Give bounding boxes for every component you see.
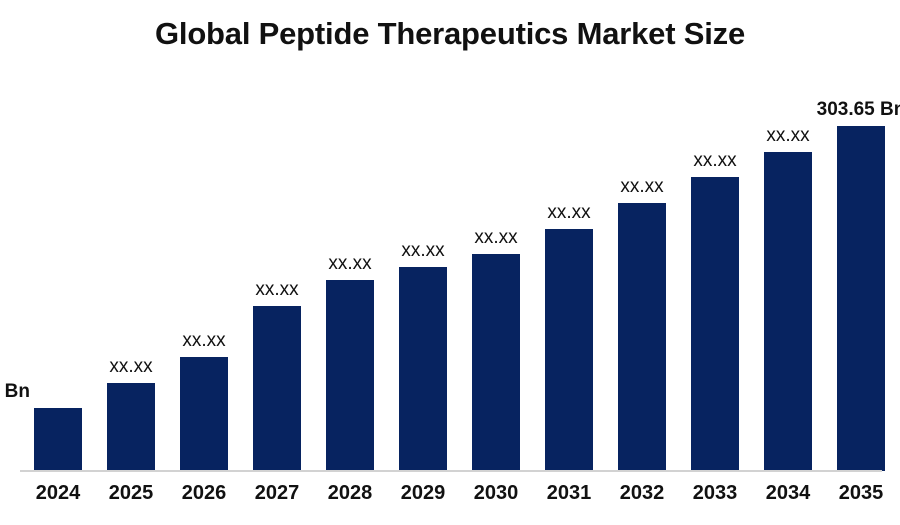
bar-value-label-2032: xx.xx: [620, 177, 663, 196]
x-axis-label-2035: 2035: [825, 482, 897, 505]
bar-value-label-2031: xx.xx: [547, 203, 590, 222]
bar-group: xx.xx2033: [691, 0, 739, 525]
chart-container: Global Peptide Therapeutics Market Size …: [0, 0, 900, 525]
bar-value-label-2025: xx.xx: [109, 357, 152, 376]
bar-value-label-2035: 303.65 Bn: [817, 100, 900, 119]
x-axis-label-2033: 2033: [679, 482, 751, 505]
x-axis-line: [20, 470, 882, 472]
bar-2032[interactable]: [618, 203, 666, 471]
bar-group: xx.xx2026: [180, 0, 228, 525]
bar-2024[interactable]: [34, 408, 82, 471]
bar-2027[interactable]: [253, 306, 301, 471]
x-axis-label-2026: 2026: [168, 482, 240, 505]
bar-group: xx.xx2032: [618, 0, 666, 525]
bar-2034[interactable]: [764, 152, 812, 471]
bar-group: 141.35 Bn2024: [34, 0, 82, 525]
bar-2030[interactable]: [472, 254, 520, 471]
bar-value-label-2028: xx.xx: [328, 254, 371, 273]
bar-2026[interactable]: [180, 357, 228, 471]
x-axis-label-2024: 2024: [22, 482, 94, 505]
bar-2028[interactable]: [326, 280, 374, 471]
bar-2033[interactable]: [691, 177, 739, 471]
bar-group: xx.xx2025: [107, 0, 155, 525]
bar-2025[interactable]: [107, 383, 155, 471]
bar-group: 303.65 Bn2035: [837, 0, 885, 525]
bar-2035[interactable]: [837, 126, 885, 471]
x-axis-label-2025: 2025: [95, 482, 167, 505]
x-axis-label-2031: 2031: [533, 482, 605, 505]
bar-value-label-2027: xx.xx: [255, 280, 298, 299]
x-axis-label-2030: 2030: [460, 482, 532, 505]
bar-group: xx.xx2030: [472, 0, 520, 525]
x-axis-label-2032: 2032: [606, 482, 678, 505]
x-axis-label-2028: 2028: [314, 482, 386, 505]
bar-2031[interactable]: [545, 229, 593, 471]
bar-value-label-2026: xx.xx: [182, 331, 225, 350]
plot-area: 141.35 Bn2024xx.xx2025xx.xx2026xx.xx2027…: [0, 0, 900, 525]
bar-value-label-2030: xx.xx: [474, 228, 517, 247]
bar-value-label-2033: xx.xx: [693, 151, 736, 170]
bar-group: xx.xx2031: [545, 0, 593, 525]
bar-value-label-2029: xx.xx: [401, 241, 444, 260]
bar-group: xx.xx2034: [764, 0, 812, 525]
bar-group: xx.xx2029: [399, 0, 447, 525]
bar-2029[interactable]: [399, 267, 447, 471]
x-axis-label-2027: 2027: [241, 482, 313, 505]
bar-group: xx.xx2028: [326, 0, 374, 525]
x-axis-label-2029: 2029: [387, 482, 459, 505]
bar-value-label-2024: 141.35 Bn: [0, 382, 30, 401]
x-axis-label-2034: 2034: [752, 482, 824, 505]
bar-group: xx.xx2027: [253, 0, 301, 525]
bar-value-label-2034: xx.xx: [766, 126, 809, 145]
